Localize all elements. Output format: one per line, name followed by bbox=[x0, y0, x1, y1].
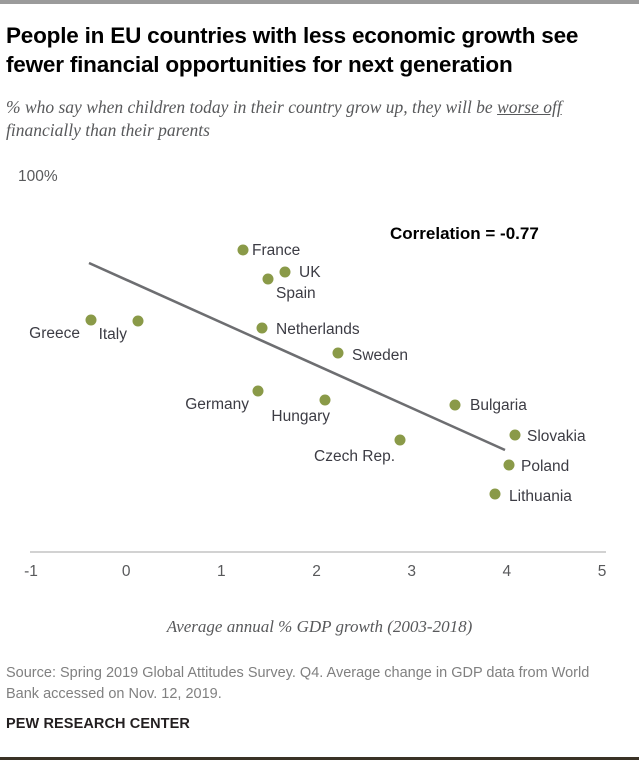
x-tick-1: 1 bbox=[217, 563, 226, 581]
data-point-germany[interactable] bbox=[253, 386, 264, 397]
data-point-greece[interactable] bbox=[86, 315, 97, 326]
data-point-poland[interactable] bbox=[504, 460, 515, 471]
data-point-sweden[interactable] bbox=[333, 348, 344, 359]
pew-research-center-logo: PEW RESEARCH CENTER bbox=[6, 716, 190, 732]
x-tick-neg1: -1 bbox=[24, 563, 38, 581]
data-label-czech-rep: Czech Rep. bbox=[314, 448, 395, 466]
x-tick-3: 3 bbox=[407, 563, 416, 581]
bottom-rule bbox=[0, 757, 639, 760]
data-label-bulgaria: Bulgaria bbox=[470, 397, 527, 415]
data-label-slovakia: Slovakia bbox=[527, 428, 586, 446]
data-label-spain: Spain bbox=[276, 285, 316, 303]
data-point-netherlands[interactable] bbox=[257, 323, 268, 334]
data-point-france[interactable] bbox=[238, 245, 249, 256]
x-axis-title: Average annual % GDP growth (2003-2018) bbox=[0, 617, 639, 637]
data-point-hungary[interactable] bbox=[320, 395, 331, 406]
data-label-lithuania: Lithuania bbox=[509, 488, 572, 506]
data-label-poland: Poland bbox=[521, 458, 569, 476]
y-axis-max-label: 100% bbox=[18, 168, 58, 186]
data-label-hungary: Hungary bbox=[271, 408, 330, 426]
subtitle-part2: financially than their parents bbox=[6, 120, 210, 140]
data-label-france: France bbox=[252, 242, 300, 260]
top-rule bbox=[0, 0, 639, 4]
data-point-italy[interactable] bbox=[133, 316, 144, 327]
data-label-uk: UK bbox=[299, 264, 321, 282]
page-title: People in EU countries with less economi… bbox=[6, 22, 618, 79]
data-label-greece: Greece bbox=[29, 325, 80, 343]
data-label-sweden: Sweden bbox=[352, 347, 408, 365]
x-tick-5: 5 bbox=[598, 563, 607, 581]
data-point-bulgaria[interactable] bbox=[450, 400, 461, 411]
x-tick-0: 0 bbox=[122, 563, 131, 581]
source-note: Source: Spring 2019 Global Attitudes Sur… bbox=[6, 663, 624, 705]
x-tick-4: 4 bbox=[503, 563, 512, 581]
subtitle-underlined: worse off bbox=[497, 97, 562, 117]
data-label-italy: Italy bbox=[99, 326, 127, 344]
x-axis-line bbox=[30, 551, 606, 553]
data-label-germany: Germany bbox=[185, 396, 249, 414]
x-tick-2: 2 bbox=[312, 563, 321, 581]
data-point-slovakia[interactable] bbox=[510, 430, 521, 441]
subtitle-part1: % who say when children today in their c… bbox=[6, 97, 497, 117]
data-point-czech-rep[interactable] bbox=[395, 435, 406, 446]
data-label-netherlands: Netherlands bbox=[276, 321, 360, 339]
correlation-annotation: Correlation = -0.77 bbox=[390, 224, 539, 244]
subtitle: % who say when children today in their c… bbox=[6, 96, 631, 142]
data-point-uk[interactable] bbox=[280, 267, 291, 278]
data-point-spain[interactable] bbox=[263, 274, 274, 285]
data-point-lithuania[interactable] bbox=[490, 489, 501, 500]
